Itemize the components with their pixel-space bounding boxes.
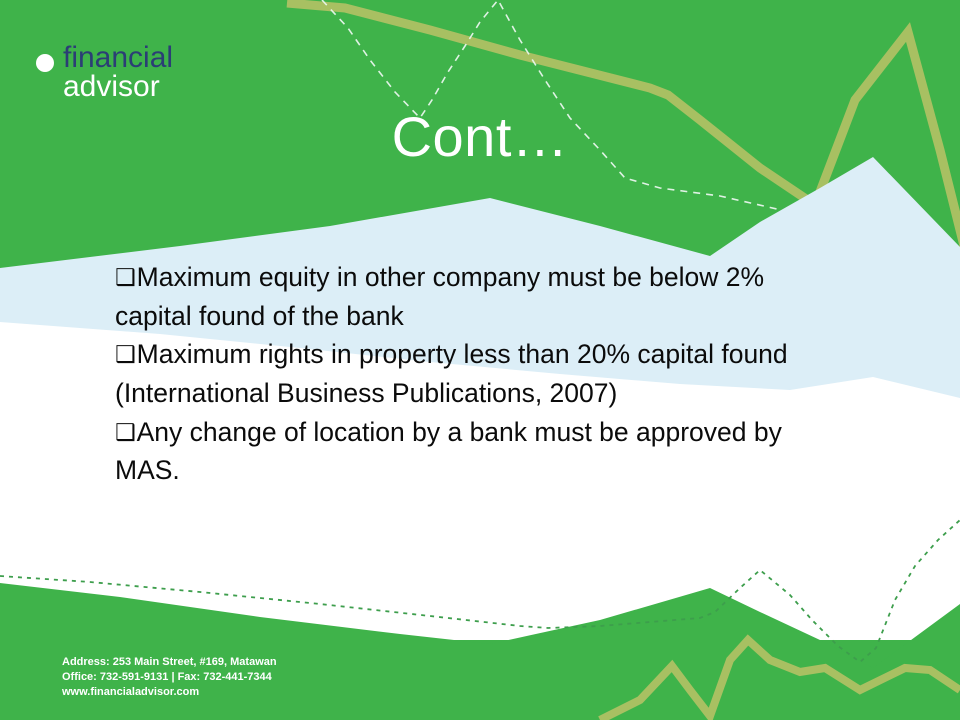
logo: financial advisor: [36, 44, 173, 101]
list-item: ❑Maximum rights in property less than 20…: [115, 335, 845, 412]
list-item-text: Maximum equity in other company must be …: [115, 262, 764, 331]
footer-website[interactable]: www.financialadvisor.com: [62, 685, 277, 700]
footer-address: Address: 253 Main Street, #169, Matawan: [62, 655, 277, 670]
list-item: ❑Maximum equity in other company must be…: [115, 258, 845, 335]
slide-canvas: financial advisor Cont… ❑Maximum equity …: [0, 0, 960, 720]
list-item-text: Any change of location by a bank must be…: [115, 417, 782, 486]
list-item: ❑Any change of location by a bank must b…: [115, 413, 845, 490]
bullet-list: ❑Maximum equity in other company must be…: [115, 258, 845, 490]
footer-phone-fax: Office: 732-591-9131 | Fax: 732-441-7344: [62, 670, 277, 685]
page-title: Cont…: [0, 108, 960, 167]
list-item-text: Maximum rights in property less than 20%…: [115, 339, 788, 408]
checkbox-square-icon: ❑: [115, 265, 136, 291]
footer-contact-block: Address: 253 Main Street, #169, Matawan …: [62, 655, 277, 700]
logo-line-advisor: advisor: [63, 73, 173, 102]
logo-wordmark: financial advisor: [63, 44, 173, 101]
filled-circle-icon: [36, 54, 54, 72]
checkbox-square-icon: ❑: [115, 420, 136, 446]
checkbox-square-icon: ❑: [115, 342, 136, 368]
logo-line-financial: financial: [63, 44, 173, 73]
